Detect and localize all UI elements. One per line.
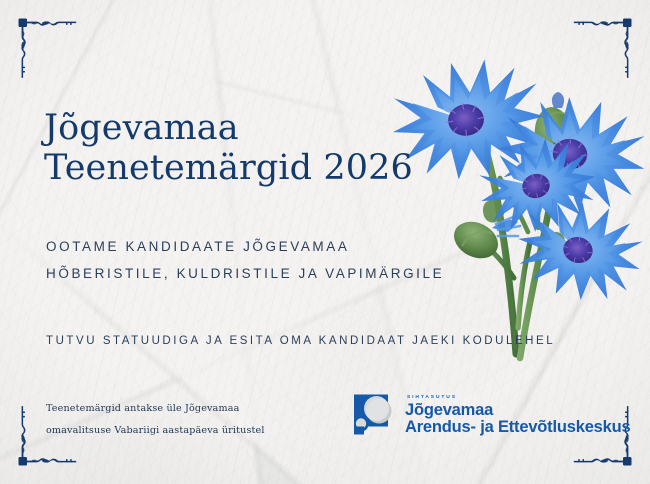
title-line-2: Teenetemärgid 2026 xyxy=(44,150,413,188)
poster-canvas: Jõgevamaa Teenetemärgid 2026 OOTAME KAND… xyxy=(0,0,650,484)
subtitle-line-2: HÕBERISTILE, KULDRISTILE JA VAPIMÄRGILE xyxy=(46,260,444,287)
call-to-action-text: TUTVU STATUUDIGA JA ESITA OMA KANDIDAAT … xyxy=(46,335,555,347)
corner-flourish-top-left-icon xyxy=(14,14,92,92)
poster-subtitle: OOTAME KANDIDAATE JÕGEVAMAA HÕBERISTILE,… xyxy=(46,233,444,287)
title-line-1: Jõgevamaa xyxy=(44,110,413,148)
organization-logo: SIHTASUTUS Jõgevamaa Arendus- ja Ettevõt… xyxy=(352,393,630,438)
jaek-logo-mark-icon xyxy=(352,393,398,438)
cornflower-bouquet-illustration xyxy=(388,28,650,368)
footnote-line-2: omavalitsuse Vabariigi aastapäeva üritus… xyxy=(46,420,265,442)
logo-line-2: Arendus- ja Ettevõtluskeskus xyxy=(405,419,630,436)
logo-wordmark: SIHTASUTUS Jõgevamaa Arendus- ja Ettevõt… xyxy=(405,395,630,436)
award-footnote: Teenetemärgid antakse üle Jõgevamaa omav… xyxy=(46,398,265,441)
logo-line-1: Jõgevamaa xyxy=(405,402,630,419)
subtitle-line-1: OOTAME KANDIDAATE JÕGEVAMAA xyxy=(46,233,444,260)
poster-title: Jõgevamaa Teenetemärgid 2026 xyxy=(44,110,413,188)
footnote-line-1: Teenetemärgid antakse üle Jõgevamaa xyxy=(46,398,265,420)
logo-kicker: SIHTASUTUS xyxy=(405,396,630,401)
